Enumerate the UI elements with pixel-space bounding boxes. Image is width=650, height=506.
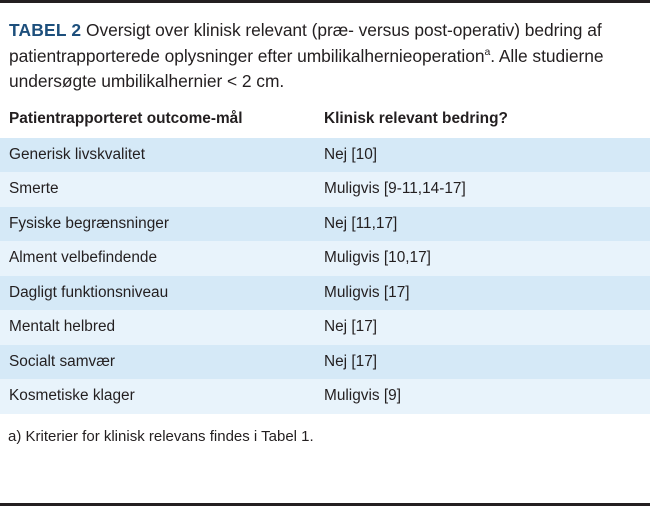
cell-outcome: Dagligt funktionsniveau bbox=[0, 276, 316, 311]
cell-improvement: Muligvis [17] bbox=[316, 276, 650, 311]
table-row: Generisk livskvalitet Nej [10] bbox=[0, 138, 650, 173]
table-row: Socialt samvær Nej [17] bbox=[0, 345, 650, 380]
table-row: Dagligt funktionsniveau Muligvis [17] bbox=[0, 276, 650, 311]
outcomes-table: Patientrapporteret outcome-mål Klinisk r… bbox=[0, 107, 650, 414]
cell-outcome: Kosmetiske klager bbox=[0, 379, 316, 414]
cell-improvement: Nej [11,17] bbox=[316, 207, 650, 242]
cell-improvement: Nej [17] bbox=[316, 345, 650, 380]
cell-improvement: Muligvis [9-11,14-17] bbox=[316, 172, 650, 207]
table-caption: TABEL 2 Oversigt over klinisk relevant (… bbox=[0, 8, 650, 95]
table-row: Fysiske begrænsninger Nej [11,17] bbox=[0, 207, 650, 242]
table-row: Mentalt helbred Nej [17] bbox=[0, 310, 650, 345]
cell-outcome: Mentalt helbred bbox=[0, 310, 316, 345]
table-number-label: TABEL 2 bbox=[9, 20, 81, 40]
cell-improvement: Muligvis [9] bbox=[316, 379, 650, 414]
table-row: Smerte Muligvis [9-11,14-17] bbox=[0, 172, 650, 207]
column-header-improvement: Klinisk relevant bedring? bbox=[316, 107, 650, 138]
cell-outcome: Fysiske begrænsninger bbox=[0, 207, 316, 242]
table-body: Generisk livskvalitet Nej [10] Smerte Mu… bbox=[0, 138, 650, 414]
table-row: Kosmetiske klager Muligvis [9] bbox=[0, 379, 650, 414]
table-head: Patientrapporteret outcome-mål Klinisk r… bbox=[0, 107, 650, 138]
cell-improvement: Muligvis [10,17] bbox=[316, 241, 650, 276]
table-row: Alment velbefindende Muligvis [10,17] bbox=[0, 241, 650, 276]
column-header-outcome: Patientrapporteret outcome-mål bbox=[0, 107, 316, 138]
table-footnote: a) Kriterier for klinisk relevans findes… bbox=[0, 414, 650, 447]
table-header-row: Patientrapporteret outcome-mål Klinisk r… bbox=[0, 107, 650, 138]
cell-improvement: Nej [17] bbox=[316, 310, 650, 345]
cell-outcome: Socialt samvær bbox=[0, 345, 316, 380]
cell-outcome: Generisk livskvalitet bbox=[0, 138, 316, 173]
cell-outcome: Alment velbefindende bbox=[0, 241, 316, 276]
cell-outcome: Smerte bbox=[0, 172, 316, 207]
cell-improvement: Nej [10] bbox=[316, 138, 650, 173]
table-figure: TABEL 2 Oversigt over klinisk relevant (… bbox=[0, 0, 650, 506]
